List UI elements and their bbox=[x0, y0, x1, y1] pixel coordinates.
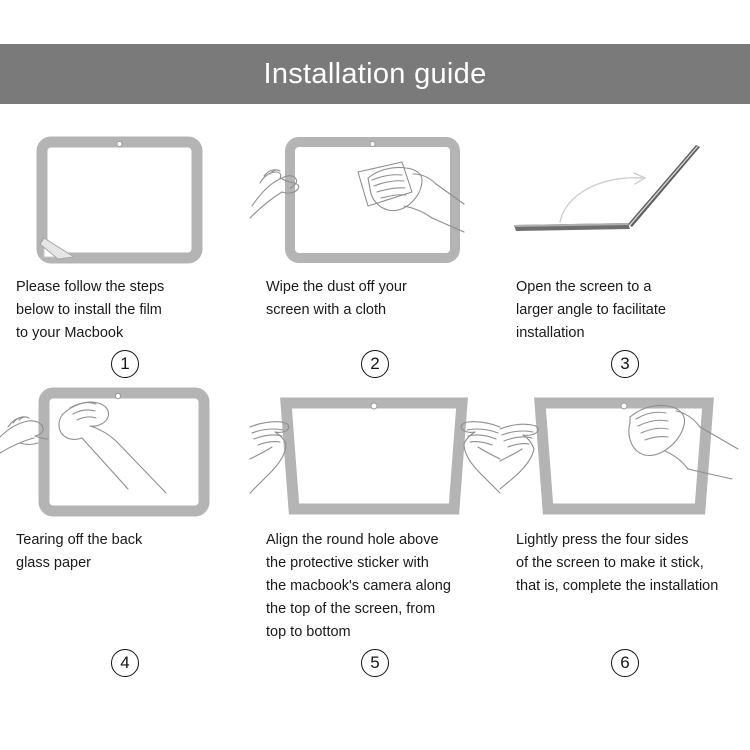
step-number-badge: 2 bbox=[361, 350, 389, 378]
tablet-icon bbox=[44, 393, 204, 511]
right-hand-icon bbox=[461, 422, 500, 493]
tablet-icon bbox=[540, 403, 708, 509]
left-hand-icon bbox=[250, 422, 289, 493]
step-3: Open the screen to a larger angle to fac… bbox=[500, 128, 750, 381]
step-2-caption: Wipe the dust off your screen with a clo… bbox=[250, 276, 500, 345]
step-number-badge: 5 bbox=[361, 649, 389, 677]
step-5-illustration bbox=[250, 381, 500, 521]
step-5-number-wrap: 5 bbox=[250, 646, 500, 680]
step-2-number-wrap: 2 bbox=[250, 347, 500, 381]
installation-guide-page: Installation guide bbox=[0, 0, 750, 750]
tablet-icon bbox=[42, 141, 197, 258]
step-3-number-wrap: 3 bbox=[500, 347, 750, 381]
step-4-number-wrap: 4 bbox=[0, 646, 250, 680]
step-number-badge: 3 bbox=[611, 350, 639, 378]
step-1-illustration bbox=[0, 128, 250, 268]
step-3-caption: Open the screen to a larger angle to fac… bbox=[500, 276, 750, 345]
step-number-badge: 4 bbox=[111, 649, 139, 677]
step-4-caption: Tearing off the back glass paper bbox=[0, 529, 250, 644]
step-5: Align the round hole above the protectiv… bbox=[250, 381, 500, 680]
step-1-number-wrap: 1 bbox=[0, 347, 250, 381]
step-1: Please follow the steps below to install… bbox=[0, 128, 250, 381]
header-bar: Installation guide bbox=[0, 44, 750, 104]
step-5-caption: Align the round hole above the protectiv… bbox=[250, 529, 500, 644]
step-1-caption: Please follow the steps below to install… bbox=[0, 276, 250, 345]
step-6-caption: Lightly press the four sides of the scre… bbox=[500, 529, 750, 644]
step-4-illustration bbox=[0, 381, 250, 521]
step-6: Lightly press the four sides of the scre… bbox=[500, 381, 750, 680]
laptop-side-view-icon bbox=[514, 145, 700, 231]
steps-grid: Please follow the steps below to install… bbox=[0, 128, 750, 680]
step-6-number-wrap: 6 bbox=[500, 646, 750, 680]
step-2-illustration bbox=[250, 128, 500, 268]
page-title: Installation guide bbox=[263, 60, 486, 89]
tablet-icon bbox=[286, 403, 462, 509]
step-6-illustration bbox=[500, 381, 750, 521]
step-number-badge: 6 bbox=[611, 649, 639, 677]
open-arrow-icon bbox=[560, 173, 645, 222]
left-hand-icon bbox=[500, 424, 538, 489]
step-2: Wipe the dust off your screen with a clo… bbox=[250, 128, 500, 381]
step-3-illustration bbox=[500, 128, 750, 268]
step-4: Tearing off the back glass paper 4 bbox=[0, 381, 250, 680]
step-number-badge: 1 bbox=[111, 350, 139, 378]
